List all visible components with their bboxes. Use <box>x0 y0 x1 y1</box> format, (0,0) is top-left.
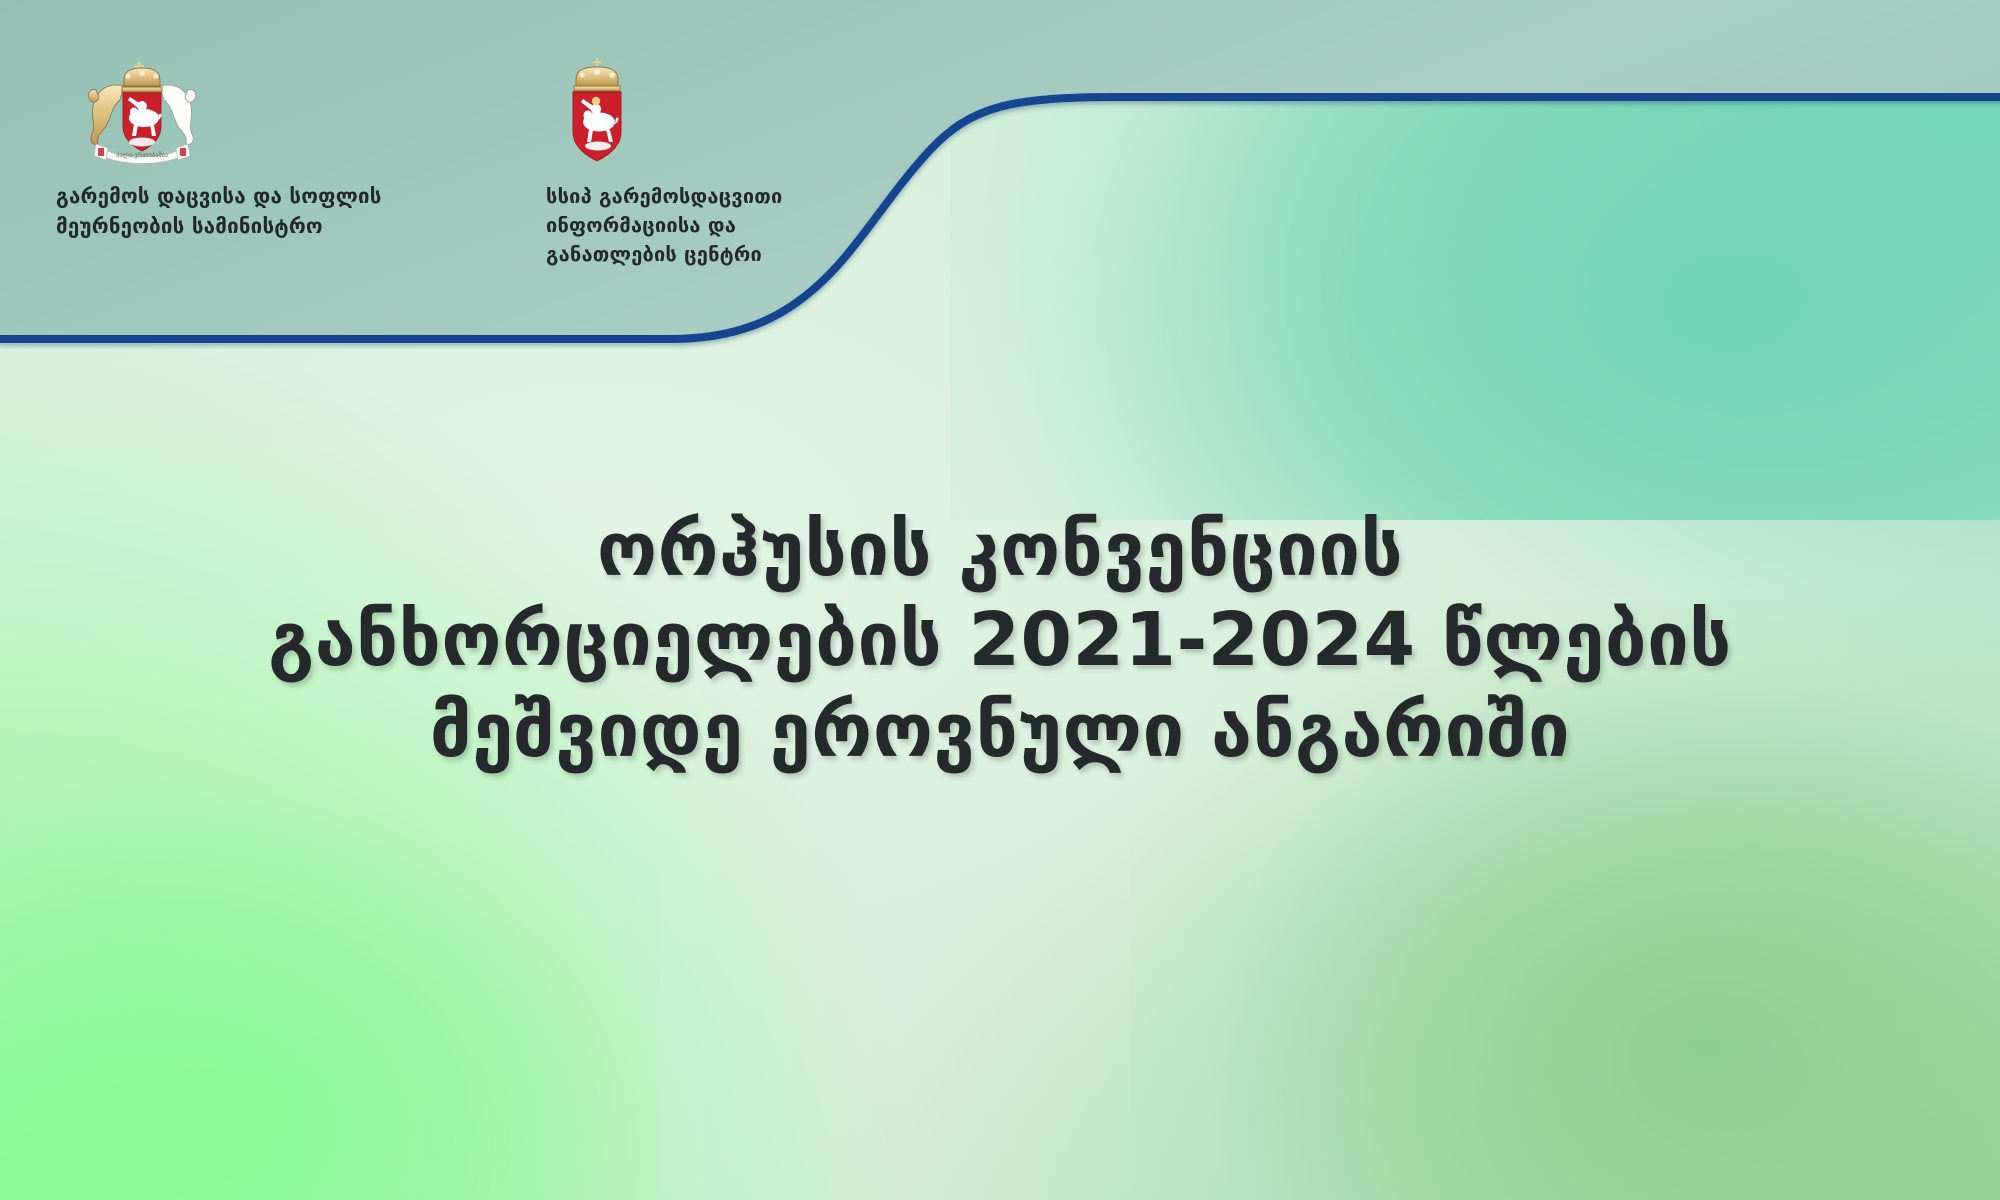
center-logo-block: სსიპ გარემოსდაცვითი ინფორმაციისა და განა… <box>546 56 886 269</box>
report-cover-page: ძალა ერთობაშია გარემოს დაცვისა და სოფლის… <box>0 0 2000 1200</box>
report-title-line-3: მეშვიდე ეროვნული ანგარიში <box>120 686 1880 776</box>
center-organization-name: სსიპ გარემოსდაცვითი ინფორმაციისა და განა… <box>546 182 886 269</box>
georgia-state-coat-of-arms-icon: ძალა ერთობაშია <box>78 56 206 168</box>
report-title-line-2: განხორციელების 2021-2024 წლების <box>120 595 1880 685</box>
report-title-line-1: ორჰუსის კონვენციის <box>120 505 1880 595</box>
report-title: ორჰუსის კონვენციის განხორციელების 2021-2… <box>0 505 2000 776</box>
ministry-crest-holder: ძალა ერთობაშია <box>56 56 468 168</box>
ministry-organization-name: გარემოს დაცვისა და სოფლის მეურნეობის სამ… <box>56 182 468 241</box>
georgia-shield-coat-of-arms-icon <box>554 56 640 168</box>
ministry-logo-block: ძალა ერთობაშია გარემოს დაცვისა და სოფლის… <box>48 56 468 241</box>
svg-text:ძალა ერთობაშია: ძალა ერთობაშია <box>116 150 168 159</box>
center-crest-holder <box>546 56 886 168</box>
organization-logos: ძალა ერთობაშია გარემოს დაცვისა და სოფლის… <box>48 56 886 269</box>
